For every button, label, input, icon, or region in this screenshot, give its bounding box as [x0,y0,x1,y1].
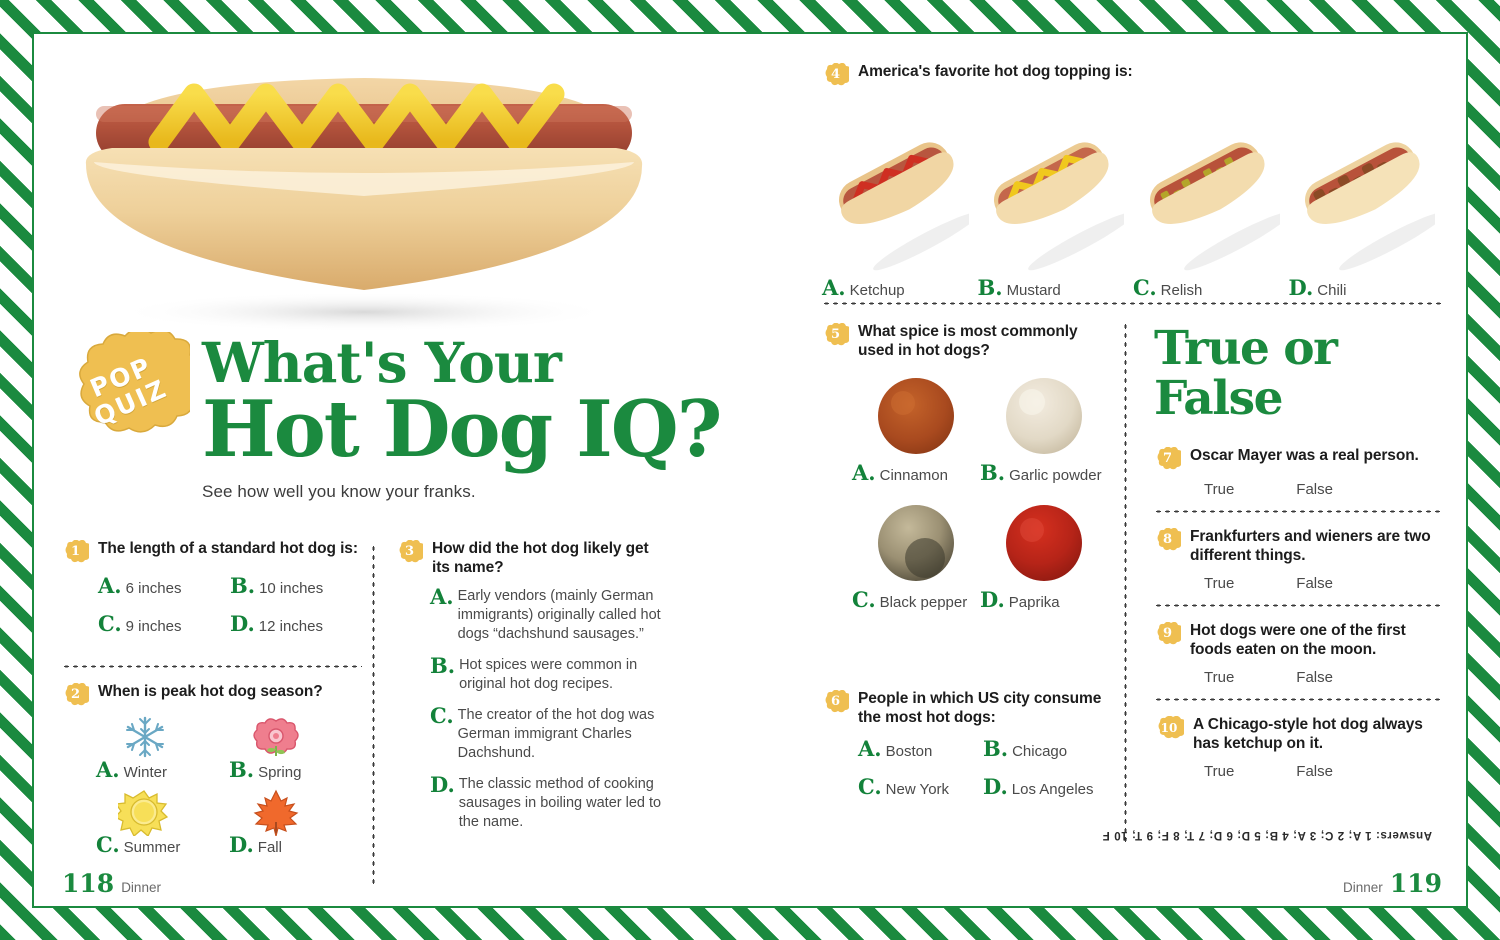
option-5a[interactable]: A. Cinnamon [852,370,980,493]
option-letter: B. [980,464,1005,482]
option-label: 10 inches [259,579,323,598]
quiz-column-right: 3 How did the hot dog likely get its nam… [396,539,666,844]
option-label: Early vendors (mainly German immigrants)… [458,587,666,644]
question-3: 3 How did the hot dog likely get its nam… [396,539,666,832]
hotdog-chili-photo [1289,105,1443,275]
option-letter: B. [430,656,455,676]
option-letter: D. [229,836,254,854]
option-5b[interactable]: B. Garlic powder [980,370,1108,493]
question-number-badge: 3 [396,540,423,564]
tf-true-option[interactable]: True [1204,575,1234,592]
question-text: When is peak hot dog season? [98,682,323,701]
option-5c[interactable]: C. Black pepper [852,497,980,620]
question-number-badge: 1 [62,540,89,564]
option-letter: B. [230,577,255,595]
horizontal-dotted-divider [1154,698,1444,701]
answer-key: Answers: 1 A; 2 C; 3 A; 4 B; 5 D; 6 D; 7… [1062,829,1432,841]
option-letter: A. [822,279,846,297]
page-label-right: Dinner [1343,880,1383,895]
page-label-left: Dinner [121,880,161,895]
question-6: 6 People in which US city consume the mo… [822,689,1108,816]
question-text: Hot dogs were one of the first foods eat… [1190,621,1444,659]
option-label: 6 inches [126,579,182,598]
option-6a[interactable]: A. Boston [858,740,983,761]
option-letter: B. [978,279,1003,297]
option-3c[interactable]: C. The creator of the hot dog was German… [430,706,666,763]
option-label: Relish [1161,281,1203,300]
question-text: People in which US city consume the most… [858,689,1108,727]
cinnamon-powder-photo [852,370,980,462]
question-number-badge: 7 [1154,447,1181,471]
option-5d[interactable]: D. Paprika [980,497,1108,620]
option-label: New York [886,780,949,799]
question-number-badge: 8 [1154,528,1181,552]
horizontal-dotted-divider-right [822,302,1442,305]
option-letter: C. [1133,279,1157,297]
tf-true-option[interactable]: True [1204,669,1234,686]
question-number-badge: 5 [822,323,849,347]
option-letter: A. [858,740,882,758]
option-2d[interactable]: D. Fall [229,788,362,857]
option-4a[interactable]: A. Ketchup [822,105,976,300]
option-letter: C. [858,778,882,796]
question-text: Frankfurters and wieners are two differe… [1190,527,1444,565]
vertical-dotted-divider-right [1124,322,1127,842]
snowflake-icon [96,713,229,761]
option-1d[interactable]: D. 12 inches [230,615,362,636]
option-4c[interactable]: C. Relish [1133,105,1287,300]
option-label: Summer [124,838,181,857]
option-label: Boston [886,742,933,761]
vertical-dotted-divider-left [372,544,375,884]
question-number: 1 [62,540,89,564]
question-1: 1 The length of a standard hot dog is: A… [62,539,362,653]
book-spread: POP QUIZ What's Your Hot Dog IQ? See how… [32,32,1468,908]
question-text: What spice is most commonly used in hot … [858,322,1108,360]
horizontal-dotted-divider [1154,604,1444,607]
option-label: Cinnamon [880,466,948,485]
option-4b[interactable]: B. Mustard [978,105,1132,300]
maple-leaf-icon [229,788,362,836]
tf-false-option[interactable]: False [1296,669,1333,686]
option-2b[interactable]: B. Spring [229,713,362,782]
page-root: POP QUIZ What's Your Hot Dog IQ? See how… [0,0,1500,940]
option-2a[interactable]: A. Winter [96,713,229,782]
option-label: 9 inches [126,617,182,636]
option-label: Black pepper [880,593,968,612]
question-4: 4 America's favorite hot dog topping is: [822,62,1442,300]
sun-icon [96,788,229,836]
quiz-column-left: 1 The length of a standard hot dog is: A… [62,539,362,869]
right-page: 4 America's favorite hot dog topping is: [794,34,1470,910]
option-letter: D. [1289,279,1314,297]
question-number-badge: 4 [822,63,849,87]
question-number-badge: 10 [1154,716,1184,740]
question-number: 4 [822,63,849,87]
option-label: Spring [258,763,301,782]
question-number: 2 [62,683,89,707]
question-number: 8 [1154,528,1181,552]
tf-false-option[interactable]: False [1296,575,1333,592]
title-line-2: Hot Dog IQ? [202,388,722,472]
question-number: 6 [822,690,849,714]
question-number: 10 [1154,716,1184,740]
option-3d[interactable]: D. The classic method of cooking sausage… [430,775,666,832]
option-letter: B. [229,761,254,779]
question-text: Oscar Mayer was a real person. [1190,446,1419,465]
hotdog-mustard-photo [978,105,1132,275]
tf-question-9: 9 Hot dogs were one of the first foods e… [1154,621,1444,686]
true-or-false-section: True or False 7 Oscar Mayer was a real p… [1154,324,1444,782]
option-label: The classic method of cooking sausages i… [459,775,666,832]
question-5: 5 What spice is most commonly used in ho… [822,322,1108,624]
option-label: Mustard [1007,281,1061,300]
question-text: The length of a standard hot dog is: [98,539,358,558]
page-number-left: 118 [62,871,114,896]
option-letter: B. [983,740,1008,758]
title-block: What's Your Hot Dog IQ? See how well you… [202,334,722,502]
horizontal-dotted-divider [1154,510,1444,513]
subtitle: See how well you know your franks. [202,482,722,502]
option-letter: D. [430,775,455,795]
black-pepper-photo [852,497,980,589]
option-label: Fall [258,838,282,857]
option-letter: A. [430,587,454,607]
option-label: Los Angeles [1012,780,1094,799]
question-number-badge: 6 [822,690,849,714]
question-number-badge: 2 [62,683,89,707]
question-number: 5 [822,323,849,347]
option-letter: D. [980,591,1005,609]
garlic-powder-photo [980,370,1108,462]
option-1b[interactable]: B. 10 inches [230,577,362,598]
option-label: Chili [1317,281,1346,300]
tf-true-option[interactable]: True [1204,481,1234,498]
tf-false-option[interactable]: False [1296,763,1333,780]
tf-true-option[interactable]: True [1204,763,1234,780]
option-2c[interactable]: C. Summer [96,788,229,857]
option-letter: A. [96,761,120,779]
option-label: 12 inches [259,617,323,636]
option-letter: A. [852,464,876,482]
paprika-powder-photo [980,497,1108,589]
question-text: A Chicago-style hot dog always has ketch… [1193,715,1444,753]
option-3a[interactable]: A. Early vendors (mainly German immigran… [430,587,666,644]
left-page: POP QUIZ What's Your Hot Dog IQ? See how… [34,34,794,910]
tf-false-option[interactable]: False [1296,481,1333,498]
option-4d[interactable]: D. Chili [1289,105,1443,300]
pop-quiz-badge: POP QUIZ [62,332,190,450]
option-label: Garlic powder [1009,466,1102,485]
footer-right: Dinner 119 [1343,871,1442,896]
question-number: 9 [1154,622,1181,646]
true-or-false-title: True or False [1154,324,1444,424]
option-letter: C. [430,706,454,726]
option-letter: C. [852,591,876,609]
option-6d[interactable]: D. Los Angeles [983,778,1108,799]
question-2: 2 When is peak hot dog season? [62,682,362,863]
footer-left: 118 Dinner [62,871,161,896]
tf-question-8: 8 Frankfurters and wieners are two diffe… [1154,527,1444,592]
question-number-badge: 9 [1154,622,1181,646]
hotdog-ketchup-photo [822,105,976,275]
option-1a[interactable]: A. 6 inches [98,577,230,598]
hero-hotdog-photo [64,44,664,334]
page-number-right: 119 [1390,871,1442,896]
hotdog-relish-photo [1133,105,1287,275]
option-letter: D. [230,615,255,633]
tf-question-7: 7 Oscar Mayer was a real person. True Fa… [1154,446,1444,498]
question-text: How did the hot dog likely get its name? [432,539,666,577]
option-6c[interactable]: C. New York [858,778,983,799]
option-label: Ketchup [850,281,905,300]
flower-icon [229,713,362,761]
tf-question-10: 10 A Chicago-style hot dog always has ke… [1154,715,1444,780]
question-number: 7 [1154,447,1181,471]
option-1c[interactable]: C. 9 inches [98,615,230,636]
option-3b[interactable]: B. Hot spices were common in original ho… [430,656,666,694]
horizontal-dotted-divider [62,665,362,668]
question-number: 3 [396,540,423,564]
option-label: Chicago [1012,742,1067,761]
option-label: Paprika [1009,593,1060,612]
option-label: The creator of the hot dog was German im… [458,706,666,763]
option-6b[interactable]: B. Chicago [983,740,1108,761]
option-letter: C. [98,615,122,633]
option-letter: C. [96,836,120,854]
option-letter: D. [983,778,1008,796]
option-label: Winter [124,763,167,782]
option-letter: A. [98,577,122,595]
question-text: America's favorite hot dog topping is: [858,62,1133,81]
option-label: Hot spices were common in original hot d… [459,656,666,694]
